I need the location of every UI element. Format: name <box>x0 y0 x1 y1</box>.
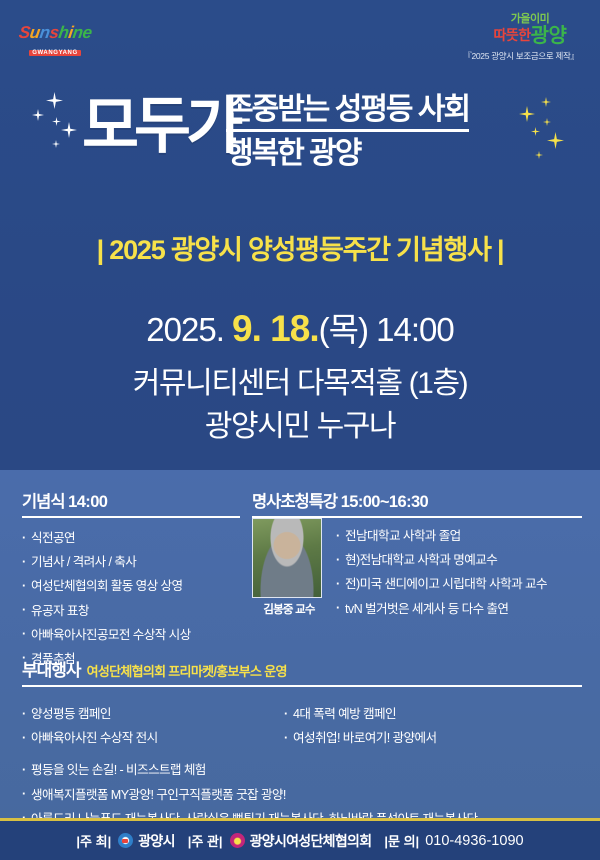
gwangyang-logo-line2-text: 따뜻한 <box>494 27 531 43</box>
list-item: 유공자 표창 <box>22 599 240 623</box>
gwangyang-brand-logo: 가을이미 따뜻한광양 <box>474 14 586 46</box>
side-events-heading: 부대행사여성단체협의회 프리마켓/홍보부스 운영 <box>22 656 582 681</box>
title-subtitle-group: 존중받는 성평등 사회 행복한 광양 <box>226 94 526 170</box>
gwangyang-logo-city-text: 광양 <box>531 25 567 47</box>
speaker-name: 김봉중 교수 <box>252 601 326 617</box>
side-events-columns: 양성평등 캠페인 아빠육아사진 수상작 전시 4대 폭력 예방 캠페인 여성취업… <box>22 694 582 750</box>
womens-association-emblem-icon <box>230 833 245 848</box>
gwangyang-logo-line1: 가을이미 <box>474 14 586 25</box>
poster-title-block: 모두가 존중받는 성평등 사회 행복한 광양 <box>0 92 600 202</box>
poster-footer: |주 최| 광양시 |주 관| 광양시여성단체협의회 |문 의| 010-493… <box>0 821 600 860</box>
event-venue: 커뮤니티센터 다목적홀 (1층) 광양시민 누구나 <box>0 363 600 448</box>
lecture-heading: 명사초청특강 15:00~16:30 <box>252 488 582 512</box>
host-value: 광양시 <box>138 831 175 851</box>
side-events-note: 여성단체협의회 프리마켓/홍보부스 운영 <box>87 664 287 679</box>
list-item: tvN 벌거벗은 세계사 등 다수 출연 <box>336 597 586 621</box>
lecture-item-list: 전남대학교 사학과 졸업 현)전남대학교 사학과 명예교수 전)미국 샌디에이고… <box>336 524 586 621</box>
list-item: 아빠육아사진공모전 수상작 시상 <box>22 623 240 647</box>
ceremony-heading-rule <box>22 516 240 518</box>
title-subtitle-line1: 존중받는 성평등 사회 <box>226 94 469 132</box>
side-events-title: 부대행사 <box>22 661 81 680</box>
contact-phone-number: 010-4936-1090 <box>425 833 523 849</box>
lecture-section: 명사초청특강 15:00~16:30 김봉중 교수 전남대학교 사학과 졸업 현… <box>252 488 582 518</box>
host-label: |주 최| <box>76 831 111 850</box>
ceremony-item-list: 식전공연 기념사 / 격려사 / 축사 여성단체협의회 활동 영상 상영 유공자… <box>22 526 240 671</box>
event-poster: Sunshine GWANGYANG 가을이미 따뜻한광양 『2025 광양시 … <box>0 0 600 860</box>
gwangyang-logo-line2: 따뜻한광양 <box>474 26 586 46</box>
event-date-prefix: 2025. <box>146 311 232 348</box>
list-item: 여성단체협의회 활동 영상 상영 <box>22 574 240 598</box>
list-item: 현)전남대학교 사학과 명예교수 <box>336 548 586 572</box>
poster-header: Sunshine GWANGYANG 가을이미 따뜻한광양 『2025 광양시 … <box>0 0 600 78</box>
sunshine-gwangyang-logo: Sunshine GWANGYANG <box>12 24 98 54</box>
title-subtitle-line2: 행복한 광양 <box>226 138 526 170</box>
side-events-heading-rule <box>22 685 582 687</box>
sunshine-logo-subtitle: GWANGYANG <box>29 50 81 56</box>
funding-credit-note: 『2025 광양시 보조금으로 제작』 <box>456 50 586 62</box>
side-events-column-left: 양성평등 캠페인 아빠육아사진 수상작 전시 <box>22 702 284 750</box>
ceremony-section: 기념식 14:00 식전공연 기념사 / 격려사 / 축사 여성단체협의회 활동… <box>22 488 240 671</box>
gwangyang-city-emblem-icon <box>118 833 133 848</box>
side-events-column-right: 4대 폭력 예방 캠페인 여성취업! 바로여기! 광양에서 <box>284 702 436 750</box>
speaker-portrait-photo <box>252 518 322 598</box>
event-datetime: 2025. 9. 18.(목) 14:00 <box>0 303 600 351</box>
lecture-title: 명사초청특강 <box>252 493 337 511</box>
list-item: 생애복지플랫폼 MY광양! 구인구직플랫폼 굿잡 광양! <box>22 783 582 807</box>
list-item: 4대 폭력 예방 캠페인 <box>284 702 436 726</box>
list-item: 식전공연 <box>22 526 240 550</box>
list-item: 여성취업! 바로여기! 광양에서 <box>284 726 436 750</box>
list-item: 양성평등 캠페인 <box>22 702 284 726</box>
ceremony-heading: 기념식 14:00 <box>22 488 240 512</box>
list-item: 기념사 / 격려사 / 축사 <box>22 550 240 574</box>
program-panel: 기념식 14:00 식전공연 기념사 / 격려사 / 축사 여성단체협의회 활동… <box>0 470 600 818</box>
sunshine-wordmark: Sunshine <box>18 24 93 41</box>
page-title: 모두가 <box>82 96 238 158</box>
event-name-banner: | 2025 광양시 양성평등주간 기념행사 | <box>0 228 600 267</box>
ceremony-time: 14:00 <box>68 493 107 511</box>
event-venue-line2: 광양시민 누구나 <box>0 406 600 449</box>
list-item: 전남대학교 사학과 졸업 <box>336 524 586 548</box>
list-item: 아빠육아사진 수상작 전시 <box>22 726 284 750</box>
list-item: 평등을 잇는 손길! - 비즈스트랩 체험 <box>22 758 582 782</box>
lecture-time: 15:00~16:30 <box>341 493 428 511</box>
event-venue-line1: 커뮤니티센터 다목적홀 (1층) <box>0 363 600 406</box>
organizer-value: 광양시여성단체협의회 <box>250 831 372 851</box>
list-item: 전)미국 샌디에이고 시립대학 사학과 교수 <box>336 572 586 596</box>
speaker-profile: 김봉중 교수 <box>252 518 326 617</box>
event-date-highlight: 9. 18. <box>232 308 319 349</box>
side-events-section: 부대행사여성단체협의회 프리마켓/홍보부스 운영 양성평등 캠페인 아빠육아사진… <box>22 656 582 831</box>
contact-label: |문 의| <box>384 831 419 850</box>
organizer-label: |주 관| <box>188 831 223 850</box>
event-date-suffix: (목) 14:00 <box>319 311 454 348</box>
gwangyang-logo-line1-text: 가을이미 <box>511 13 549 25</box>
ceremony-title: 기념식 <box>22 493 65 511</box>
